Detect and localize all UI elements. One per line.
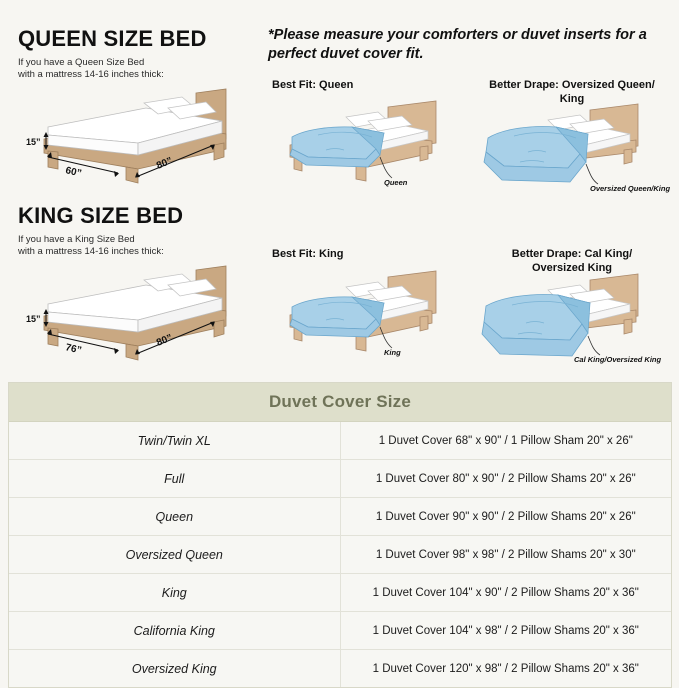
table-cell-size: California King: [9, 612, 340, 650]
heading-better-drape-queen-line-1: Better Drape: Oversized Queen/: [489, 79, 655, 91]
table-row: Oversized Queen1 Duvet Cover 98" x 98" /…: [9, 536, 671, 574]
queen-section-title: QUEEN SIZE BED: [18, 28, 258, 50]
king-subtitle-line-1: If you have a King Size Bed: [18, 234, 135, 245]
tag-king: King: [384, 348, 401, 357]
duvet-bed-diagram-queen-fit: [268, 95, 468, 200]
table-cell-size: Oversized Queen: [9, 536, 340, 574]
duvet-illustration-best-fit-king: King: [268, 265, 468, 370]
king-bed-illustration: 15” 76” 80”: [18, 264, 258, 364]
tag-oversized-queen-king: Oversized Queen/King: [590, 184, 670, 193]
table-cell-detail: 1 Duvet Cover 90" x 90" / 2 Pillow Shams…: [340, 498, 671, 536]
table-cell-detail: 1 Duvet Cover 80" x 90" / 2 Pillow Shams…: [340, 460, 671, 498]
size-table-head: Duvet Cover Size: [9, 383, 671, 422]
heading-better-drape-king-line-1: Better Drape: Cal King/: [512, 248, 632, 260]
table-row: Queen1 Duvet Cover 90" x 90" / 2 Pillow …: [9, 498, 671, 536]
table-cell-detail: 1 Duvet Cover 68" x 90" / 1 Pillow Sham …: [340, 422, 671, 460]
table-cell-detail: 1 Duvet Cover 120" x 98" / 2 Pillow Sham…: [340, 650, 671, 688]
size-table-body: Twin/Twin XL1 Duvet Cover 68" x 90" / 1 …: [9, 422, 671, 688]
table-cell-detail: 1 Duvet Cover 104" x 90" / 2 Pillow Sham…: [340, 574, 671, 612]
queen-section-subtitle: If you have a Queen Size Bed with a matt…: [18, 57, 258, 81]
table-row: King1 Duvet Cover 104" x 90" / 2 Pillow …: [9, 574, 671, 612]
table-row: Full1 Duvet Cover 80" x 90" / 2 Pillow S…: [9, 460, 671, 498]
duvet-illustration-better-drape-queen: Oversized Queen/King: [468, 92, 678, 204]
heading-best-fit-queen: Best Fit: Queen: [272, 78, 462, 92]
table-cell-size: King: [9, 574, 340, 612]
king-size-section: KING SIZE BED If you have a King Size Be…: [18, 205, 258, 364]
tag-queen: Queen: [384, 178, 407, 187]
king-section-subtitle: If you have a King Size Bed with a mattr…: [18, 234, 258, 258]
duvet-cover-size-table: Duvet Cover Size Twin/Twin XL1 Duvet Cov…: [8, 382, 672, 688]
king-bed-diagram: 15” 76” 80”: [18, 264, 258, 364]
table-cell-size: Oversized King: [9, 650, 340, 688]
duvet-bed-diagram-king-fit: [268, 265, 468, 370]
duvet-illustration-better-drape-king: Cal King/Oversized King: [468, 262, 678, 374]
queen-height-dimension: 15”: [26, 137, 41, 147]
table-row: Oversized King1 Duvet Cover 120" x 98" /…: [9, 650, 671, 688]
table-row: California King1 Duvet Cover 104" x 98" …: [9, 612, 671, 650]
queen-subtitle-line-2: with a mattress 14-16 inches thick:: [18, 69, 164, 80]
queen-bed-diagram: 15” 60” 80”: [18, 87, 258, 187]
table-row: Twin/Twin XL1 Duvet Cover 68" x 90" / 1 …: [9, 422, 671, 460]
table-cell-size: Queen: [9, 498, 340, 536]
table-cell-detail: 1 Duvet Cover 104" x 98" / 2 Pillow Sham…: [340, 612, 671, 650]
table-header-title: Duvet Cover Size: [9, 383, 671, 422]
duvet-size-guide-page: QUEEN SIZE BED If you have a Queen Size …: [0, 0, 679, 679]
king-subtitle-line-2: with a mattress 14-16 inches thick:: [18, 246, 164, 257]
table-cell-size: Full: [9, 460, 340, 498]
duvet-illustration-best-fit-queen: Queen: [268, 95, 468, 200]
table-cell-size: Twin/Twin XL: [9, 422, 340, 460]
queen-subtitle-line-1: If you have a Queen Size Bed: [18, 57, 144, 68]
table-cell-detail: 1 Duvet Cover 98" x 98" / 2 Pillow Shams…: [340, 536, 671, 574]
queen-size-section: QUEEN SIZE BED If you have a Queen Size …: [18, 28, 258, 187]
tag-cal-king-oversized-king: Cal King/Oversized King: [574, 355, 661, 364]
queen-bed-illustration: 15” 60” 80”: [18, 87, 258, 187]
heading-best-fit-king: Best Fit: King: [272, 247, 462, 261]
king-width-dimension: 76”: [64, 342, 82, 356]
size-table: Duvet Cover Size Twin/Twin XL1 Duvet Cov…: [9, 383, 671, 687]
measurement-note: *Please measure your comforters or duvet…: [268, 26, 672, 64]
queen-width-dimension: 60”: [64, 165, 82, 179]
table-header-row: Duvet Cover Size: [9, 383, 671, 422]
king-height-dimension: 15”: [26, 314, 41, 324]
king-section-title: KING SIZE BED: [18, 205, 258, 227]
